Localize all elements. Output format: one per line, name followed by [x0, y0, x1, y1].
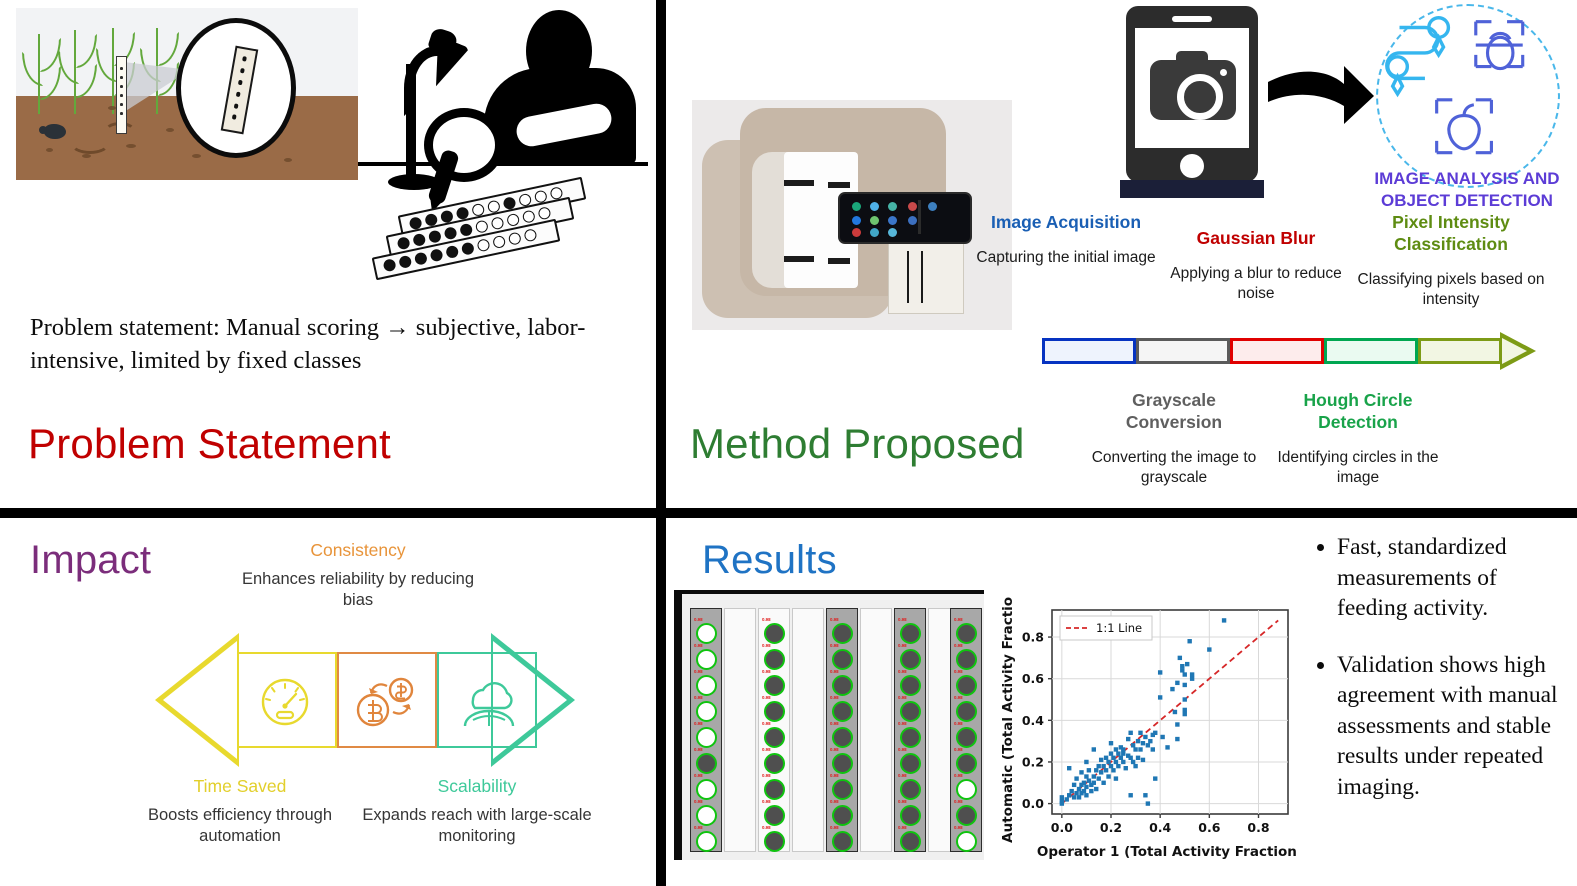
spot-label: 0.98: [694, 617, 703, 622]
detected-circle: [764, 831, 785, 852]
step-desc: Converting the image to grayscale: [1084, 448, 1264, 488]
spot-label: 0.98: [694, 799, 703, 804]
spot-label: 0.98: [898, 721, 907, 726]
method-step-hough-circle: Hough Circle Detection Identifying circl…: [1268, 390, 1448, 487]
spot-label: 0.98: [762, 825, 771, 830]
detected-circle: [900, 623, 921, 644]
spot-label: 0.98: [954, 773, 963, 778]
detected-circle: [956, 805, 977, 826]
detected-circle: [696, 623, 717, 644]
detected-circle: [900, 831, 921, 852]
svg-text:0.6: 0.6: [1198, 820, 1220, 835]
pipeline-flow-bar: [1042, 338, 1502, 364]
soil-speck: [82, 154, 91, 158]
detected-circle: [764, 727, 785, 748]
detected-circle: [900, 701, 921, 722]
spot-label: 0.98: [954, 695, 963, 700]
spot-label: 0.98: [762, 747, 771, 752]
detected-circle: [956, 779, 977, 800]
detected-circle: [832, 753, 853, 774]
detected-circle: [764, 779, 785, 800]
strips-inner: 0.980.980.980.980.980.980.980.980.98 0.9…: [682, 594, 984, 860]
soil-speck: [108, 106, 116, 110]
spot-label: 0.98: [762, 721, 771, 726]
poster: Problem statement: Manual scoring → subj…: [0, 0, 1577, 886]
spot-label: 0.98: [830, 799, 839, 804]
validation-scatter-chart: 0.00.20.40.60.80.00.20.40.60.8Operator 1…: [996, 596, 1296, 866]
detected-circle: [956, 623, 977, 644]
svg-text:0.2: 0.2: [1100, 820, 1122, 835]
spot-label: 0.98: [898, 617, 907, 622]
flow-seg-acquisition: [1042, 338, 1136, 364]
detected-circle: [696, 779, 717, 800]
spot-label: 0.98: [694, 721, 703, 726]
problem-statement-text: Problem statement: Manual scoring → subj…: [30, 312, 620, 378]
detected-circle: [696, 831, 717, 852]
arrow-left-head: [155, 633, 239, 767]
svg-text:0.4: 0.4: [1022, 713, 1044, 728]
spot-label: 0.98: [830, 747, 839, 752]
image-analysis-label: IMAGE ANALYSIS AND OBJECT DETECTION: [1352, 168, 1577, 212]
strip-2: 0.980.980.980.980.980.980.980.980.98: [758, 608, 790, 852]
detected-circle: [696, 805, 717, 826]
detected-circle: [900, 675, 921, 696]
impact-item-consistency: Consistency Enhances reliability by redu…: [240, 540, 476, 612]
cloud-network-icon: [455, 678, 523, 728]
strip-gap-3: [860, 608, 892, 852]
detected-circle: [764, 623, 785, 644]
method-step-gaussian-blur: Gaussian Blur Applying a blur to reduce …: [1166, 228, 1346, 304]
bait-strip-zoom: [221, 46, 259, 135]
flow-seg-hough: [1324, 338, 1418, 364]
step-name: Image Acquisition: [976, 212, 1156, 234]
results-bullet-list: Fast, standardized measurements of feedi…: [1311, 532, 1573, 828]
svg-text:0.6: 0.6: [1022, 671, 1044, 686]
spot-label: 0.98: [694, 643, 703, 648]
detected-circle: [900, 779, 921, 800]
method-step-pixel-intensity: Pixel Intensity Classification Classifyi…: [1356, 212, 1546, 309]
spot-label: 0.98: [694, 747, 703, 752]
soil-speck: [192, 154, 201, 158]
svg-text:0.8: 0.8: [1022, 630, 1044, 645]
detected-circle: [764, 805, 785, 826]
smartphone-on-rig: [838, 192, 972, 244]
impact-item-time-saved: Time Saved Boosts efficiency through aut…: [120, 776, 360, 848]
detected-circle: [956, 727, 977, 748]
spot-label: 0.98: [762, 695, 771, 700]
impact-item-desc: Enhances reliability by reducing bias: [240, 569, 476, 612]
spot-label: 0.98: [954, 617, 963, 622]
spot-label: 0.98: [898, 747, 907, 752]
svg-text:Operator 1 (Total Activity Fra: Operator 1 (Total Activity Fraction): [1037, 844, 1296, 860]
detected-circle: [900, 649, 921, 670]
spot-label: 0.98: [898, 695, 907, 700]
detected-circle: [956, 701, 977, 722]
annotated-strips-photo: 0.980.980.980.980.980.980.980.980.98 0.9…: [674, 590, 984, 860]
step-desc: Classifying pixels based on intensity: [1356, 270, 1546, 310]
results-section-title: Results: [702, 538, 837, 583]
right-arrow-icon: [1266, 60, 1376, 130]
strip-1: 0.980.980.980.980.980.980.980.980.98: [690, 608, 722, 852]
spot-label: 0.98: [954, 799, 963, 804]
spot-label: 0.98: [954, 747, 963, 752]
svg-text:0.4: 0.4: [1149, 820, 1171, 835]
spot-label: 0.98: [762, 617, 771, 622]
list-item: Fast, standardized measurements of feedi…: [1337, 532, 1573, 624]
speedometer-icon: [255, 676, 315, 728]
spot-label: 0.98: [762, 669, 771, 674]
detected-circle: [764, 701, 785, 722]
detected-circle: [764, 675, 785, 696]
flow-seg-grayscale: [1136, 338, 1230, 364]
smartphone-camera-icon: [1126, 6, 1258, 196]
spot-label: 0.98: [898, 669, 907, 674]
flow-seg-blur: [1230, 338, 1324, 364]
spot-label: 0.98: [830, 643, 839, 648]
horizontal-divider: [0, 508, 1577, 518]
detected-circle: [956, 675, 977, 696]
detected-circle: [832, 649, 853, 670]
spot-label: 0.98: [898, 799, 907, 804]
spot-label: 0.98: [954, 669, 963, 674]
detected-circle: [696, 753, 717, 774]
step-desc: Capturing the initial image: [976, 248, 1156, 268]
imaging-rig-photo: [692, 100, 1012, 330]
spot-label: 0.98: [898, 825, 907, 830]
spot-label: 0.98: [954, 643, 963, 648]
detected-circle: [956, 753, 977, 774]
panel-problem-statement: Problem statement: Manual scoring → subj…: [0, 0, 656, 508]
strip-gap-1: [724, 608, 756, 852]
detected-circle: [900, 727, 921, 748]
impact-item-desc: Expands reach with large-scale monitorin…: [358, 805, 596, 848]
impact-item-name: Consistency: [240, 540, 476, 561]
svg-text:0.8: 0.8: [1247, 820, 1269, 835]
detected-circle: [956, 831, 977, 852]
spot-label: 0.98: [694, 825, 703, 830]
impact-item-name: Scalability: [358, 776, 596, 797]
magnified-strip-callout: [176, 18, 296, 158]
detected-circle: [764, 649, 785, 670]
impact-item-scalability: Scalability Expands reach with large-sca…: [358, 776, 596, 848]
method-section-title: Method Proposed: [690, 420, 1025, 468]
soil-speck: [46, 148, 53, 152]
spot-label: 0.98: [762, 773, 771, 778]
spot-label: 0.98: [830, 825, 839, 830]
spot-label: 0.98: [762, 643, 771, 648]
step-desc: Applying a blur to reduce noise: [1166, 264, 1346, 304]
svg-text:0.0: 0.0: [1051, 820, 1073, 835]
spot-label: 0.98: [762, 799, 771, 804]
method-step-image-acquisition: Image Acquisition Capturing the initial …: [976, 212, 1156, 268]
strip-5: 0.980.980.980.980.980.980.980.980.98: [950, 608, 982, 852]
svg-text:0.0: 0.0: [1022, 796, 1044, 811]
spot-label: 0.98: [830, 773, 839, 778]
list-item: Validation shows high agreement with man…: [1337, 650, 1573, 803]
spot-label: 0.98: [694, 773, 703, 778]
impact-arrow-diagram: [155, 628, 575, 778]
soil-speck: [166, 128, 174, 132]
spot-label: 0.98: [954, 825, 963, 830]
step-name: Pixel Intensity Classification: [1356, 212, 1546, 256]
bait-strip-card: [888, 242, 964, 314]
strip-gap-2: [792, 608, 824, 852]
problem-section-title: Problem Statement: [28, 420, 391, 468]
spot-label: 0.98: [954, 721, 963, 726]
detected-circle: [832, 727, 853, 748]
panel-impact: Impact Consistency Enhances reliability …: [0, 518, 656, 886]
panel-results: Results 0.980.980.980.980.980.980.980.98…: [666, 518, 1577, 886]
detected-circle: [900, 805, 921, 826]
spot-label: 0.98: [694, 669, 703, 674]
detected-circle: [832, 779, 853, 800]
impact-item-desc: Boosts efficiency through automation: [120, 805, 360, 848]
camera-icon: [1150, 60, 1236, 120]
detected-circle: [832, 805, 853, 826]
step-name: Hough Circle Detection: [1268, 390, 1448, 434]
step-name: Gaussian Blur: [1166, 228, 1346, 250]
detected-circle: [956, 649, 977, 670]
detected-circle: [696, 727, 717, 748]
field-illustration: [16, 8, 358, 180]
spot-label: 0.98: [898, 773, 907, 778]
flow-seg-classification: [1418, 338, 1502, 364]
spot-label: 0.98: [830, 669, 839, 674]
soil-speck: [284, 158, 292, 162]
beetle-icon: [44, 124, 66, 139]
spot-label: 0.98: [898, 643, 907, 648]
detected-circle: [832, 831, 853, 852]
vertical-divider: [656, 0, 666, 886]
svg-text:1:1 Line: 1:1 Line: [1096, 621, 1142, 635]
detected-circle: [696, 675, 717, 696]
step-desc: Identifying circles in the image: [1268, 448, 1448, 488]
detected-circle: [832, 675, 853, 696]
svg-text:Automatic (Total Activity Frac: Automatic (Total Activity Fraction): [1000, 596, 1016, 843]
detected-circle: [832, 623, 853, 644]
detected-circle: [696, 649, 717, 670]
spot-label: 0.98: [830, 695, 839, 700]
currency-exchange-icon: [353, 674, 419, 730]
step-name: Grayscale Conversion: [1084, 390, 1264, 434]
method-step-grayscale: Grayscale Conversion Converting the imag…: [1084, 390, 1264, 487]
spot-label: 0.98: [830, 617, 839, 622]
panel-method-proposed: IMAGE ANALYSIS AND OBJECT DETECTION Imag…: [666, 0, 1577, 508]
strip-3: 0.980.980.980.980.980.980.980.980.98: [826, 608, 858, 852]
impact-item-name: Time Saved: [120, 776, 360, 797]
detected-circle: [900, 753, 921, 774]
svg-text:0.2: 0.2: [1022, 754, 1044, 769]
impact-section-title: Impact: [30, 538, 151, 583]
strip-4: 0.980.980.980.980.980.980.980.980.98: [894, 608, 926, 852]
detected-circle: [696, 701, 717, 722]
detected-circle: [764, 753, 785, 774]
object-detection-graphic: [1376, 4, 1560, 188]
spot-label: 0.98: [694, 695, 703, 700]
detected-circle: [832, 701, 853, 722]
bait-strip: [116, 56, 127, 134]
soil-speck: [126, 144, 136, 148]
spot-label: 0.98: [830, 721, 839, 726]
flow-arrow-head: [1500, 332, 1536, 370]
